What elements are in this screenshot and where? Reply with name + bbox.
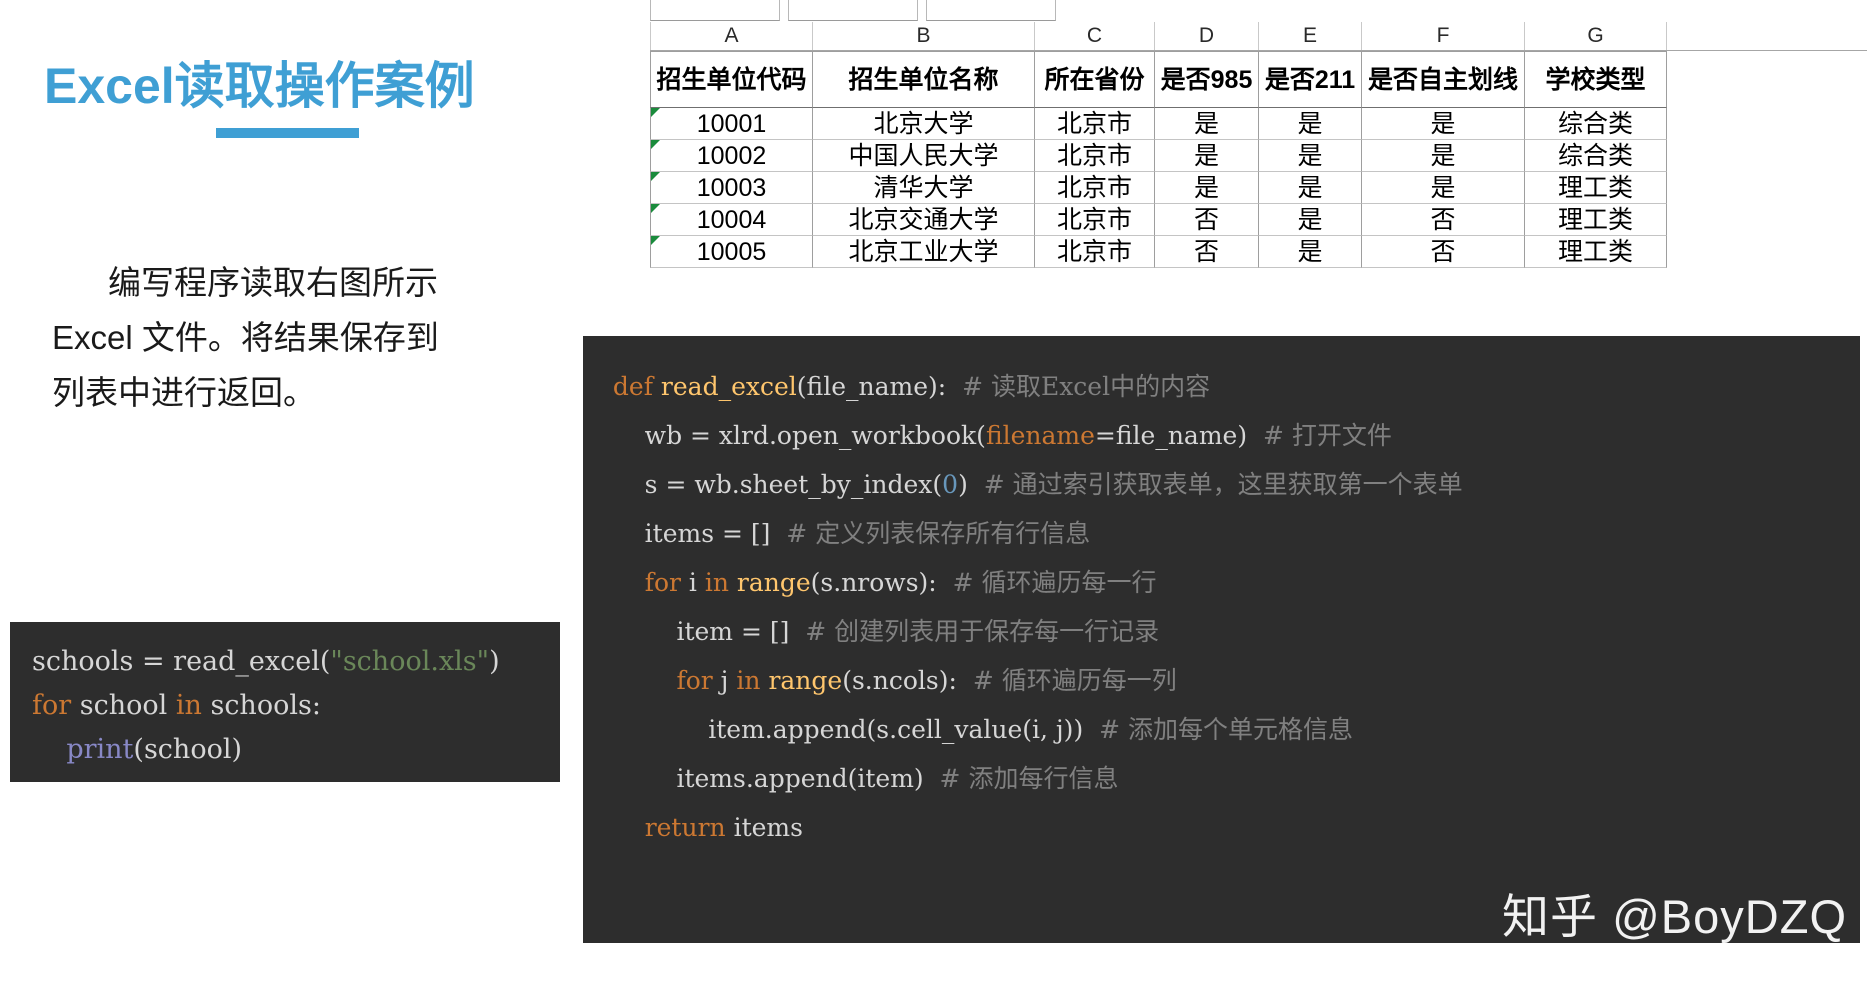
table-cell-autoline[interactable]: 否 (1362, 204, 1525, 236)
table-cell-autoline[interactable]: 是 (1362, 172, 1525, 204)
table-cell-type[interactable]: 综合类 (1525, 108, 1667, 140)
table-cell-985[interactable]: 是 (1155, 172, 1259, 204)
code-line: s = wb.sheet_by_index(0) # 通过索引获取表单，这里获取… (583, 460, 1860, 509)
main-code-block: def read_excel(file_name): # 读取Excel中的内容… (583, 336, 1860, 943)
table-header-cell: 招生单位名称 (813, 51, 1035, 108)
table-cell-type[interactable]: 理工类 (1525, 204, 1667, 236)
table-cell-name[interactable]: 清华大学 (813, 172, 1035, 204)
code-line: def read_excel(file_name): # 读取Excel中的内容 (583, 362, 1860, 411)
table-header-cell: 招生单位代码 (650, 51, 813, 108)
cell-text: 10004 (697, 206, 767, 234)
code-line: return items (583, 803, 1860, 852)
table-cell-code[interactable]: 10002 (650, 140, 813, 172)
title-underline-rule (216, 128, 359, 138)
column-header-b[interactable]: B (813, 22, 1035, 50)
code-line: wb = xlrd.open_workbook(filename=file_na… (583, 411, 1860, 460)
spreadsheet-grid: 招生单位代码 招生单位名称 所在省份 是否985 是否211 是否自主划线 学校… (650, 51, 1867, 268)
table-cell-type[interactable]: 理工类 (1525, 172, 1667, 204)
table-cell-code[interactable]: 10001 (650, 108, 813, 140)
watermark-text: 知乎 @BoyDZQ (1502, 878, 1847, 947)
cell-text: 10001 (697, 110, 767, 138)
error-flag-icon (651, 108, 660, 117)
column-header-row: A B C D E F G (650, 22, 1867, 51)
cell-text: 10002 (697, 142, 767, 170)
table-row[interactable]: 10003 清华大学 北京市 是 是 是 理工类 (650, 172, 1867, 204)
table-cell-province[interactable]: 北京市 (1035, 236, 1155, 268)
column-header-d[interactable]: D (1155, 22, 1259, 50)
table-cell-985[interactable]: 否 (1155, 236, 1259, 268)
table-cell-type[interactable]: 综合类 (1525, 140, 1667, 172)
error-flag-icon (651, 172, 660, 181)
table-header-cell: 是否211 (1259, 51, 1362, 108)
table-cell-code[interactable]: 10004 (650, 204, 813, 236)
column-header-f[interactable]: F (1362, 22, 1525, 50)
table-row[interactable]: 10004 北京交通大学 北京市 否 是 否 理工类 (650, 204, 1867, 236)
table-cell-211[interactable]: 是 (1259, 140, 1362, 172)
table-cell-985[interactable]: 是 (1155, 140, 1259, 172)
table-row[interactable]: 10001 北京大学 北京市 是 是 是 综合类 (650, 108, 1867, 140)
table-row[interactable]: 10005 北京工业大学 北京市 否 是 否 理工类 (650, 236, 1867, 268)
description-line-2: Excel 文件。将结果保存到 (52, 310, 522, 365)
code-line: items = [] # 定义列表保存所有行信息 (583, 509, 1860, 558)
table-cell-211[interactable]: 是 (1259, 236, 1362, 268)
table-header-cell: 学校类型 (1525, 51, 1667, 108)
error-flag-icon (651, 236, 660, 245)
cell-text: 10003 (697, 174, 767, 202)
code-line: item.append(s.cell_value(i, j)) # 添加每个单元… (583, 705, 1860, 754)
table-header-row: 招生单位代码 招生单位名称 所在省份 是否985 是否211 是否自主划线 学校… (650, 51, 1867, 108)
table-cell-province[interactable]: 北京市 (1035, 140, 1155, 172)
table-cell-type[interactable]: 理工类 (1525, 236, 1667, 268)
description-line-1: 编写程序读取右图所示 (52, 255, 522, 310)
code-line: for school in schools: (10, 684, 560, 728)
code-line: item = [] # 创建列表用于保存每一行记录 (583, 607, 1860, 656)
table-cell-name[interactable]: 北京交通大学 (813, 204, 1035, 236)
table-cell-autoline[interactable]: 是 (1362, 108, 1525, 140)
table-cell-province[interactable]: 北京市 (1035, 172, 1155, 204)
table-cell-985[interactable]: 否 (1155, 204, 1259, 236)
code-line: schools = read_excel("school.xls") (10, 640, 560, 684)
sheet-tab[interactable] (926, 0, 1056, 21)
code-line: print(school) (10, 728, 560, 772)
table-cell-name[interactable]: 北京大学 (813, 108, 1035, 140)
code-line: for j in range(s.ncols): # 循环遍历每一列 (583, 656, 1860, 705)
table-cell-autoline[interactable]: 是 (1362, 140, 1525, 172)
sheet-tab[interactable] (788, 0, 918, 21)
page-title: Excel读取操作案例 (44, 46, 475, 118)
excel-spreadsheet: A B C D E F G 招生单位代码 招生单位名称 所在省份 是否985 是… (558, 0, 1867, 268)
table-cell-autoline[interactable]: 否 (1362, 236, 1525, 268)
description-line-3: 列表中进行返回。 (52, 365, 522, 420)
column-header-a[interactable]: A (650, 22, 813, 50)
table-cell-211[interactable]: 是 (1259, 108, 1362, 140)
column-header-c[interactable]: C (1035, 22, 1155, 50)
table-header-cell: 所在省份 (1035, 51, 1155, 108)
table-row[interactable]: 10002 中国人民大学 北京市 是 是 是 综合类 (650, 140, 1867, 172)
table-cell-province[interactable]: 北京市 (1035, 204, 1155, 236)
table-header-cell: 是否985 (1155, 51, 1259, 108)
usage-code-block: schools = read_excel("school.xls") for s… (10, 622, 560, 782)
table-cell-name[interactable]: 北京工业大学 (813, 236, 1035, 268)
table-cell-name[interactable]: 中国人民大学 (813, 140, 1035, 172)
table-cell-province[interactable]: 北京市 (1035, 108, 1155, 140)
table-cell-code[interactable]: 10003 (650, 172, 813, 204)
table-cell-211[interactable]: 是 (1259, 204, 1362, 236)
sheet-tab[interactable] (650, 0, 780, 21)
sheet-tab-strip (650, 0, 1867, 22)
column-header-g[interactable]: G (1525, 22, 1667, 50)
error-flag-icon (651, 140, 660, 149)
table-cell-code[interactable]: 10005 (650, 236, 813, 268)
column-header-e[interactable]: E (1259, 22, 1362, 50)
description-text: 编写程序读取右图所示 Excel 文件。将结果保存到 列表中进行返回。 (52, 255, 522, 420)
cell-text: 10005 (697, 238, 767, 266)
table-header-cell: 是否自主划线 (1362, 51, 1525, 108)
table-cell-211[interactable]: 是 (1259, 172, 1362, 204)
code-line: items.append(item) # 添加每行信息 (583, 754, 1860, 803)
code-line: for i in range(s.nrows): # 循环遍历每一行 (583, 558, 1860, 607)
error-flag-icon (651, 204, 660, 213)
table-cell-985[interactable]: 是 (1155, 108, 1259, 140)
